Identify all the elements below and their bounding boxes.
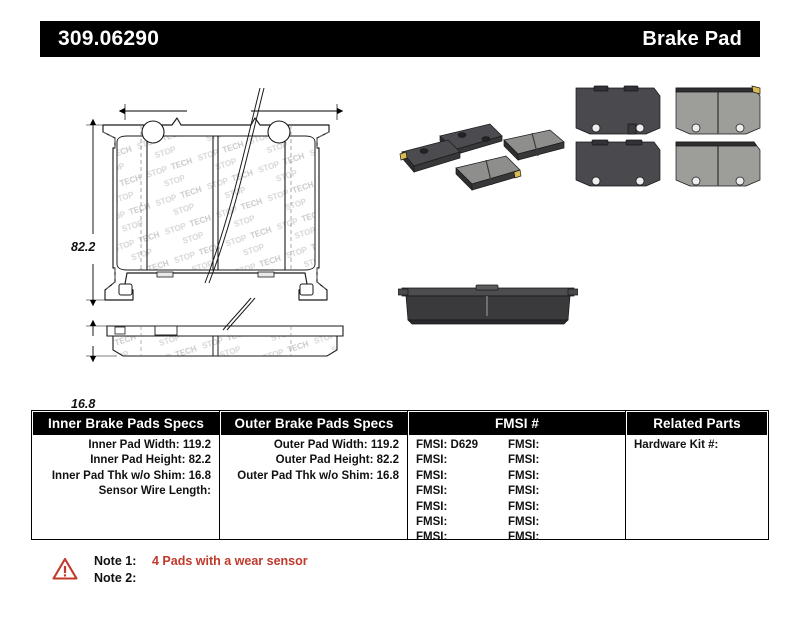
fmsi-row: FMSI: <box>508 438 600 453</box>
spec-row: Inner Pad Width: 119.2 <box>31 438 211 453</box>
spec-row: Inner Pad Thk w/o Shim: 16.8 <box>31 469 211 484</box>
column-divider <box>625 410 626 540</box>
dimension-thickness-label: 16.8 <box>71 397 95 411</box>
fmsi-row: FMSI: <box>508 500 600 515</box>
fmsi-label: FMSI: <box>508 439 539 451</box>
note-list: Note 1: 4 Pads with a wear sensor Note 2… <box>94 553 308 587</box>
fmsi-label: FMSI: <box>416 439 447 451</box>
spec-row: Sensor Wire Length: <box>31 484 211 499</box>
fmsi-label: FMSI: <box>416 470 447 482</box>
fmsi-row: FMSI: <box>416 515 508 530</box>
spec-label: Outer Pad Width: <box>274 439 368 451</box>
fmsi-row: FMSI: <box>416 453 508 468</box>
fmsi-row: FMSI: <box>508 469 600 484</box>
fmsi-row: FMSI: <box>416 500 508 515</box>
fmsi-subcolumn-a: FMSI: D629 FMSI: FMSI: FMSI: <box>416 438 508 546</box>
fmsi-subcolumn-b: FMSI: FMSI: FMSI: FMSI: <box>508 438 600 546</box>
spec-row: Inner Pad Height: 82.2 <box>31 453 211 468</box>
table-header-row: Inner Brake Pads Specs Outer Brake Pads … <box>31 410 769 436</box>
fmsi-row: FMSI: D629 <box>416 438 508 453</box>
header-fmsi: FMSI # <box>409 412 625 435</box>
note-row-1: Note 1: 4 Pads with a wear sensor <box>94 553 308 570</box>
fmsi-row: FMSI: <box>508 515 600 530</box>
spec-value: 16.8 <box>377 470 399 482</box>
note-1-value: 4 Pads with a wear sensor <box>146 553 308 570</box>
product-type: Brake Pad <box>642 28 742 51</box>
related-parts-column: Hardware Kit #: <box>625 438 769 453</box>
fmsi-row: FMSI: <box>508 530 600 545</box>
fmsi-label: FMSI: <box>416 531 447 543</box>
header-outer-specs: Outer Brake Pads Specs <box>221 412 407 435</box>
fmsi-label: FMSI: <box>508 531 539 543</box>
spec-value: 119.2 <box>183 439 211 451</box>
related-part-label: Hardware Kit #: <box>634 439 718 451</box>
header-bar: 309.06290 Brake Pad <box>40 21 760 57</box>
fmsi-label: FMSI: <box>508 485 539 497</box>
part-number: 309.06290 <box>58 27 159 51</box>
technical-drawing: 119.2 82.2 16.8 STOP TECH STOP <box>55 68 395 378</box>
brake-pad-cad-drawing: STOP TECH STOP <box>55 68 395 378</box>
warning-triangle-icon <box>52 557 78 580</box>
note-2-label: Note 2: <box>94 570 146 587</box>
photo-pad-edge <box>398 276 578 334</box>
note-1-label: Note 1: <box>94 553 146 570</box>
fmsi-value: D629 <box>451 439 479 451</box>
fmsi-label: FMSI: <box>416 516 447 528</box>
fmsi-row: FMSI: <box>416 530 508 545</box>
fmsi-label: FMSI: <box>508 516 539 528</box>
fmsi-row: FMSI: <box>508 453 600 468</box>
spec-value: 82.2 <box>189 454 211 466</box>
spec-row: Outer Pad Width: 119.2 <box>219 438 399 453</box>
notes-section: Note 1: 4 Pads with a wear sensor Note 2… <box>52 553 472 599</box>
pad-edge-view <box>86 298 343 356</box>
spec-label: Outer Pad Height: <box>276 454 374 466</box>
spec-label: Inner Pad Height: <box>90 454 185 466</box>
related-part-row: Hardware Kit #: <box>634 438 769 453</box>
fmsi-label: FMSI: <box>416 501 447 513</box>
fmsi-label: FMSI: <box>416 485 447 497</box>
spec-value: 16.8 <box>189 470 211 482</box>
specifications-table: Inner Brake Pads Specs Outer Brake Pads … <box>31 410 769 540</box>
spec-sheet: 309.06290 Brake Pad 119.2 82.2 16.8 STOP… <box>0 0 800 619</box>
header-related-parts: Related Parts <box>627 412 767 435</box>
note-row-2: Note 2: <box>94 570 308 587</box>
product-photos <box>398 76 770 366</box>
fmsi-column: FMSI: D629 FMSI: FMSI: FMSI: <box>407 438 625 546</box>
spec-value: 119.2 <box>371 439 399 451</box>
fmsi-label: FMSI: <box>508 454 539 466</box>
inner-specs-column: Inner Pad Width: 119.2 Inner Pad Height:… <box>31 438 219 500</box>
fmsi-row: FMSI: <box>416 469 508 484</box>
spec-label: Sensor Wire Length: <box>99 485 211 497</box>
spec-row: Outer Pad Thk w/o Shim: 16.8 <box>219 469 399 484</box>
dimension-width <box>125 104 337 120</box>
header-inner-specs: Inner Brake Pads Specs <box>33 412 219 435</box>
pad-face-view <box>103 88 329 300</box>
fmsi-label: FMSI: <box>508 470 539 482</box>
photo-pad-set-angled <box>398 94 574 194</box>
spec-label: Outer Pad Thk w/o Shim: <box>237 470 373 482</box>
fmsi-label: FMSI: <box>508 501 539 513</box>
spec-value: 82.2 <box>377 454 399 466</box>
photo-pad-grid <box>570 80 766 192</box>
outer-specs-column: Outer Pad Width: 119.2 Outer Pad Height:… <box>219 438 407 484</box>
spec-label: Inner Pad Width: <box>88 439 179 451</box>
fmsi-row: FMSI: <box>508 484 600 499</box>
fmsi-row: FMSI: <box>416 484 508 499</box>
spec-row: Outer Pad Height: 82.2 <box>219 453 399 468</box>
fmsi-label: FMSI: <box>416 454 447 466</box>
spec-label: Inner Pad Thk w/o Shim: <box>52 470 186 482</box>
